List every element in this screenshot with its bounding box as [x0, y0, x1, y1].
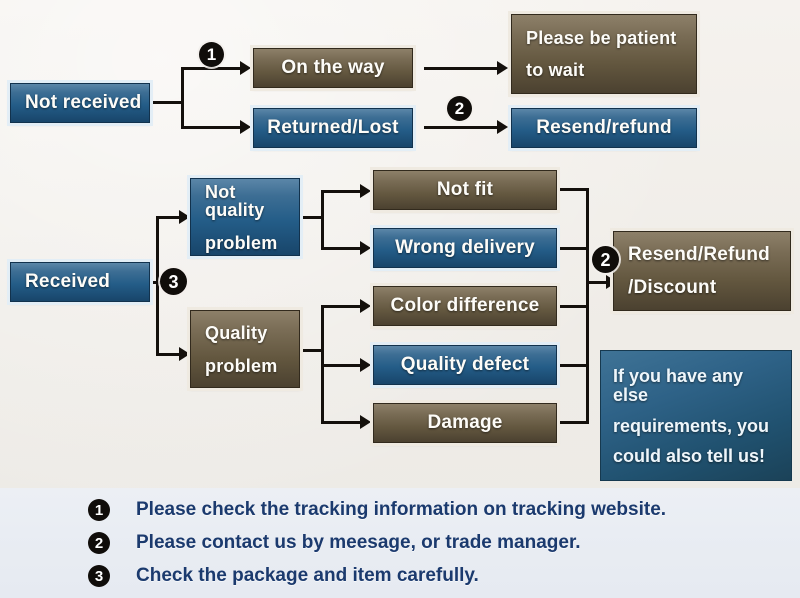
badge-two-middle: 2	[592, 246, 619, 273]
connector-to-returned-lost	[181, 126, 243, 129]
connector-not-quality-split	[321, 190, 324, 250]
legend-panel: 1 Please check the tracking information …	[0, 488, 800, 598]
connector-not-received-split	[181, 67, 184, 129]
node-not-fit[interactable]: Not fit	[373, 170, 557, 210]
node-label: Received	[25, 271, 149, 293]
node-color-difference[interactable]: Color difference	[373, 286, 557, 326]
collector-stub-damage	[559, 421, 589, 424]
node-resend-refund[interactable]: Resend/refund	[511, 108, 697, 148]
legend-text-2: Please contact us by meesage, or trade m…	[136, 532, 581, 554]
collector-stub-wrong-delivery	[559, 247, 589, 250]
bubble-line1: If you have any else	[613, 367, 779, 405]
connector-to-quality-defect	[321, 364, 363, 367]
arrow-to-returned-lost	[240, 120, 251, 134]
arrow-to-quality	[179, 347, 190, 361]
node-label: Color difference	[374, 295, 556, 317]
bubble-line2: requirements, you	[613, 417, 779, 436]
node-label: Resend/refund	[512, 117, 696, 139]
connector-received-split	[156, 216, 159, 356]
arrow-to-not-quality	[179, 210, 190, 224]
node-label-line2: problem	[205, 357, 277, 375]
node-please-be-patient[interactable]: Please be patient to wait	[511, 14, 697, 94]
legend-badge-2: 2	[88, 532, 110, 554]
arrow-to-wrong-delivery	[360, 241, 371, 255]
legend-text-1: Please check the tracking information on…	[136, 499, 666, 521]
badge-three-middle: 3	[160, 268, 187, 295]
node-label: Returned/Lost	[254, 117, 412, 139]
badge-number: 1	[207, 46, 216, 63]
arrow-to-quality-defect	[360, 358, 371, 372]
legend-badge-1: 1	[88, 499, 110, 521]
bubble-line3: could also tell us!	[613, 447, 779, 466]
connector-to-wrong-delivery	[321, 247, 363, 250]
connector-on-the-way-to-patient	[424, 67, 500, 70]
node-damage[interactable]: Damage	[373, 403, 557, 443]
arrow-to-please-be-patient	[497, 61, 508, 75]
node-not-quality-problem[interactable]: Not quality problem	[190, 178, 300, 256]
arrow-to-color-difference	[360, 299, 371, 313]
node-quality-defect[interactable]: Quality defect	[373, 345, 557, 385]
node-resend-refund-discount[interactable]: Resend/Refund /Discount	[613, 231, 791, 311]
badge-number: 2	[455, 100, 464, 117]
node-quality-problem[interactable]: Quality problem	[190, 310, 300, 388]
arrow-to-resend-refund	[497, 120, 508, 134]
node-label-line1: Resend/Refund	[628, 245, 770, 264]
badge-number: 3	[168, 273, 178, 291]
speech-bubble-extra-requirements[interactable]: If you have any else requirements, you c…	[600, 350, 792, 481]
node-returned-lost[interactable]: Returned/Lost	[253, 108, 413, 148]
node-label-line2: to wait	[526, 61, 584, 79]
node-wrong-delivery[interactable]: Wrong delivery	[373, 228, 557, 268]
node-label: Wrong delivery	[374, 237, 556, 259]
legend-item-2: 2 Please contact us by meesage, or trade…	[88, 532, 581, 554]
arrow-to-on-the-way	[240, 61, 251, 75]
collector-stub-quality-defect	[559, 364, 589, 367]
connector-to-color-difference	[321, 305, 363, 308]
connector-returned-to-resend	[424, 126, 500, 129]
node-label-line1: Not quality	[205, 183, 299, 219]
arrow-to-damage	[360, 415, 371, 429]
node-label-line1: Quality	[205, 324, 267, 342]
node-label: Damage	[374, 412, 556, 434]
legend-item-1: 1 Please check the tracking information …	[88, 499, 666, 521]
flowchart-diagram: Not received 1 On the way Returned/Lost …	[0, 0, 800, 598]
badge-two-top: 2	[447, 96, 472, 121]
badge-one-top: 1	[199, 42, 224, 67]
node-label: Quality defect	[374, 354, 556, 376]
node-not-received[interactable]: Not received	[10, 83, 150, 123]
connector-to-not-fit	[321, 190, 363, 193]
arrow-to-not-fit	[360, 184, 371, 198]
collector-bus-line	[586, 188, 589, 424]
connector-to-damage	[321, 421, 363, 424]
node-label: Not received	[25, 92, 149, 114]
collector-stub-not-fit	[559, 188, 589, 191]
connector-not-received-stem	[153, 101, 183, 104]
badge-number: 2	[600, 251, 610, 269]
legend-item-3: 3 Check the package and item carefully.	[88, 565, 479, 587]
node-label-line2: problem	[205, 234, 277, 252]
node-label-line1: Please be patient	[526, 29, 676, 47]
legend-badge-3: 3	[88, 565, 110, 587]
connector-to-on-the-way	[181, 67, 243, 70]
node-received[interactable]: Received	[10, 262, 150, 302]
node-label: Not fit	[374, 179, 556, 201]
legend-text-3: Check the package and item carefully.	[136, 565, 479, 587]
node-label: On the way	[254, 57, 412, 79]
node-label-line2: /Discount	[628, 278, 716, 297]
collector-stub-color-difference	[559, 305, 589, 308]
node-on-the-way[interactable]: On the way	[253, 48, 413, 88]
